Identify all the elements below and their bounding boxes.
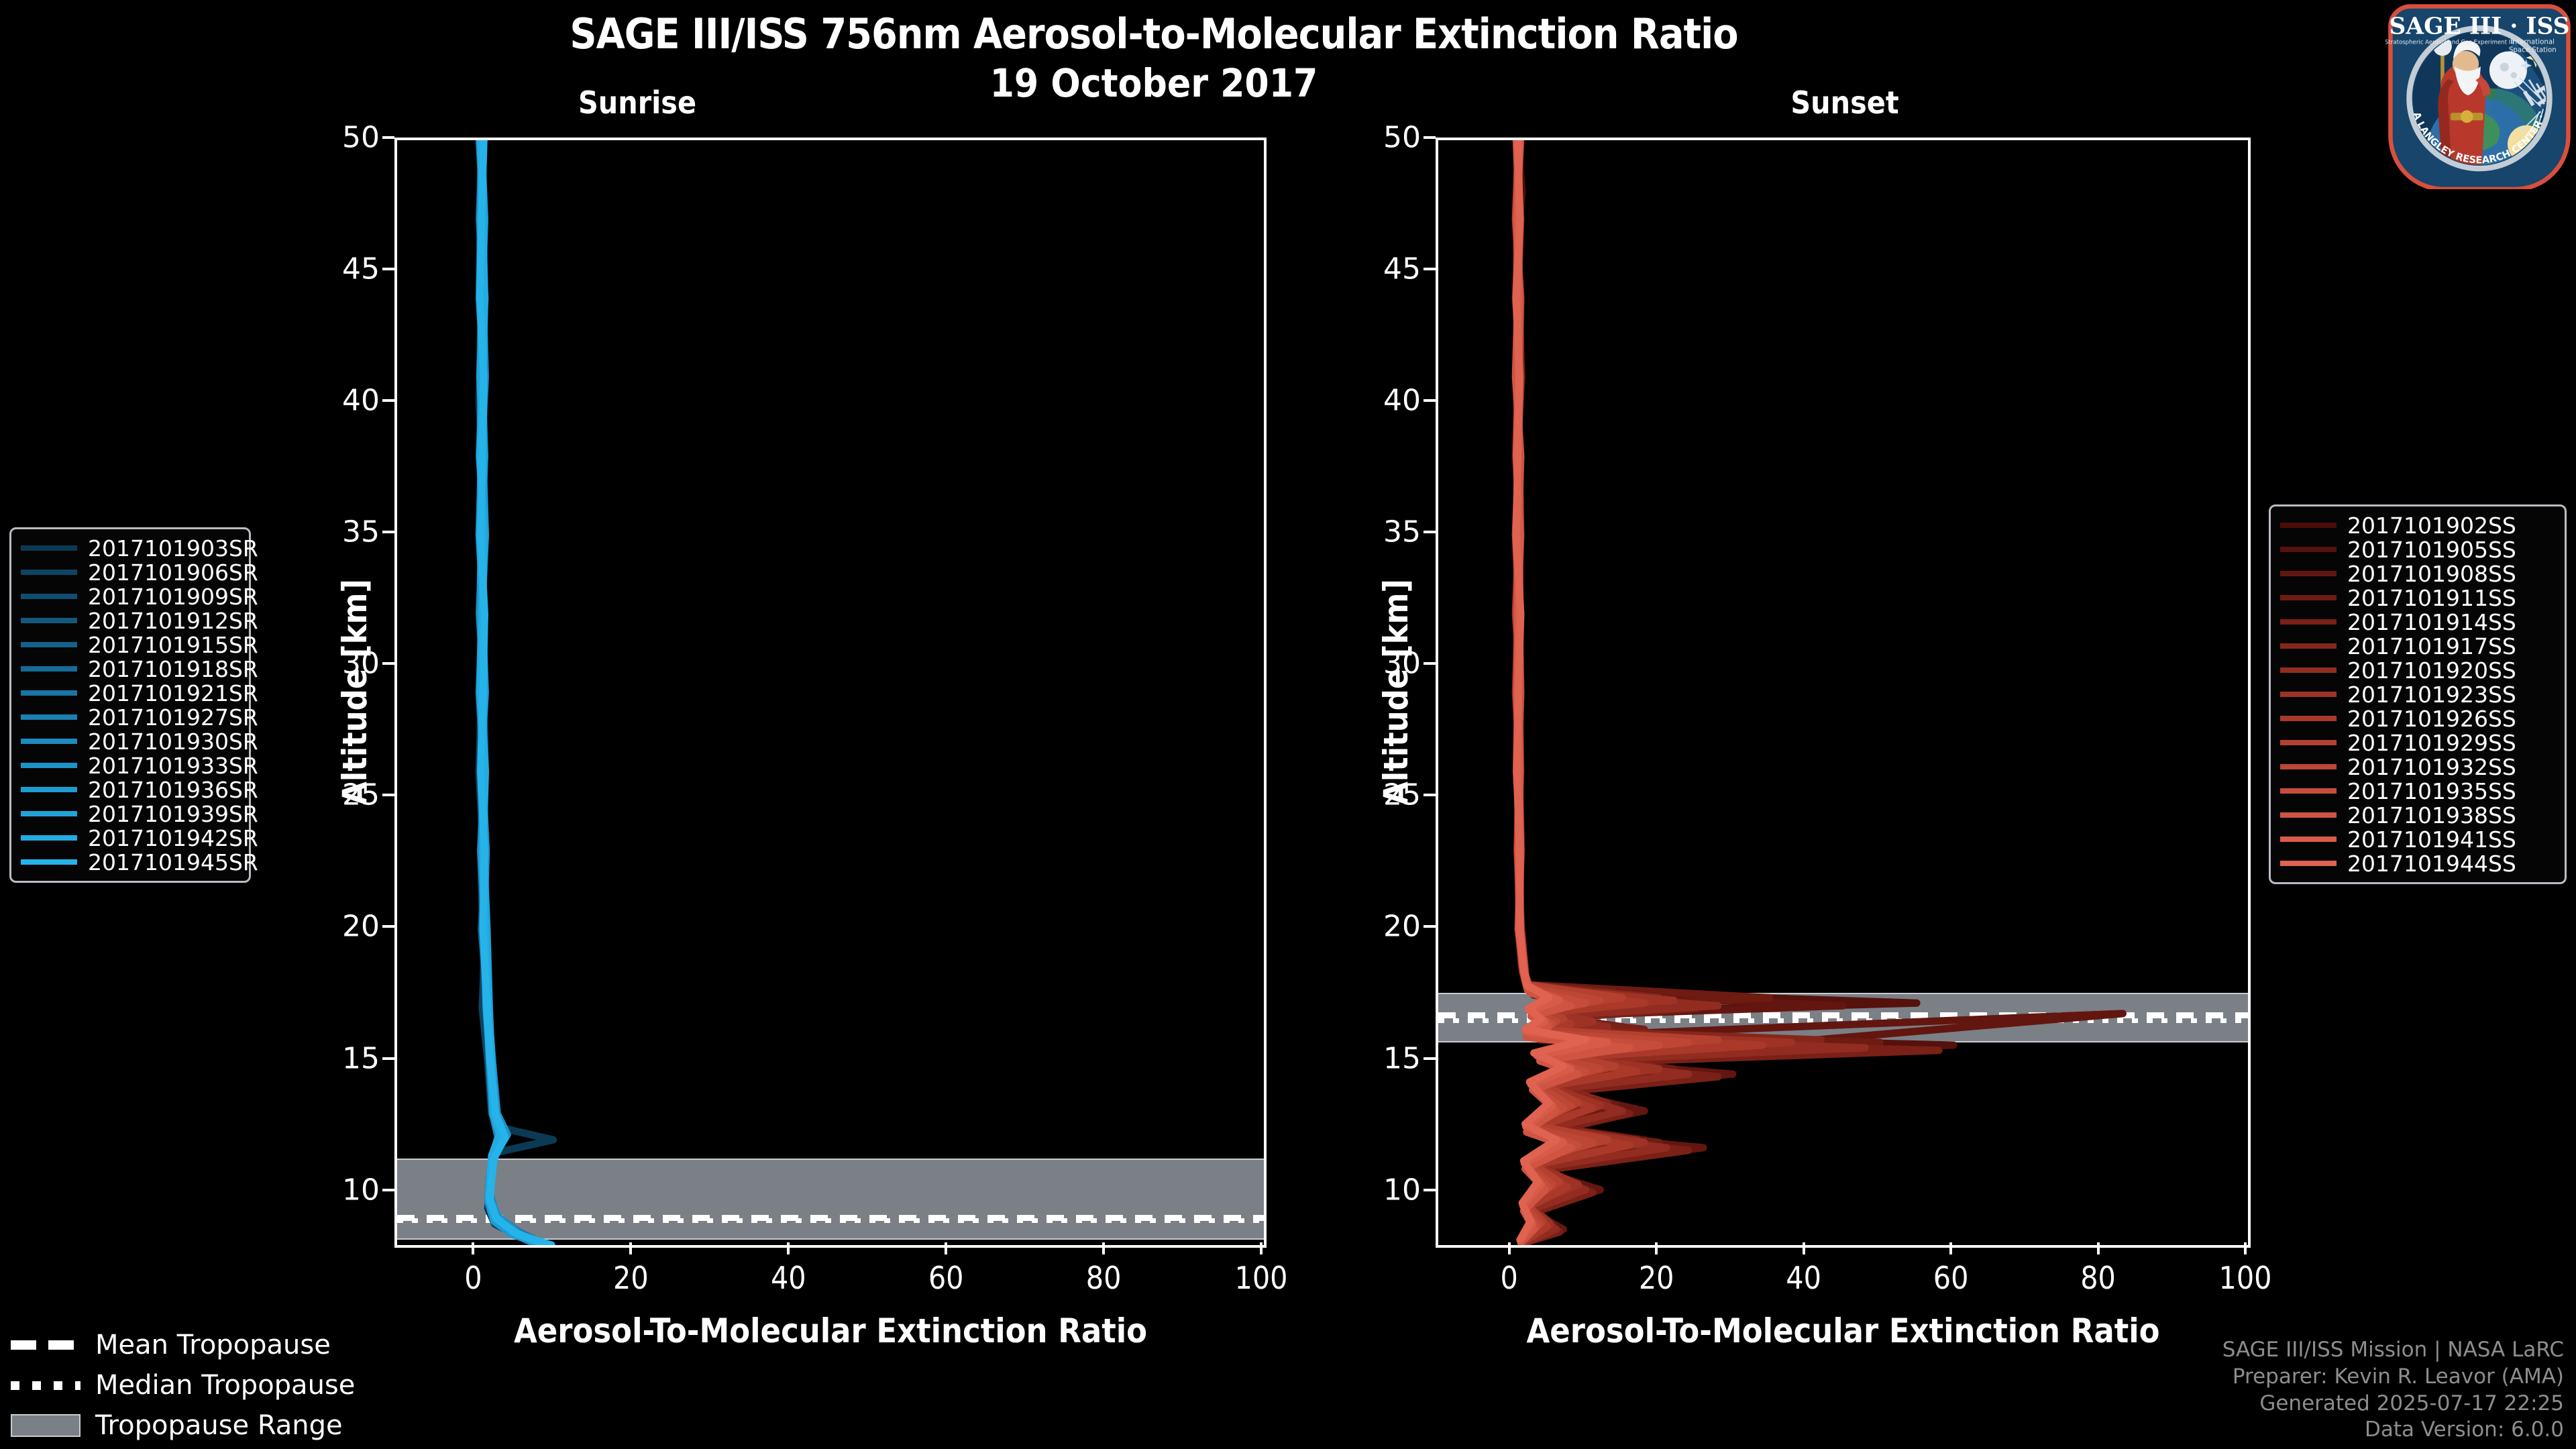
credit-line-version: Data Version: 6.0.0	[2222, 1417, 2564, 1444]
legend-item-sunset[interactable]: 2017101932SS	[2280, 755, 2555, 779]
legend-item-label: 2017101933SR	[88, 753, 258, 779]
legend-item-label: 2017101944SS	[2347, 851, 2516, 877]
legend-item-label: 2017101942SR	[88, 825, 258, 851]
legend-item-label: 2017101917SS	[2347, 633, 2516, 659]
legend-item-sunrise[interactable]: 2017101939SR	[21, 802, 239, 826]
legend-item-sunset[interactable]: 2017101902SS	[2280, 513, 2555, 537]
legend-item-sunrise[interactable]: 2017101903SR	[21, 536, 239, 560]
ytick-label: 40	[279, 384, 380, 418]
legend-item-sunrise[interactable]: 2017101933SR	[21, 753, 239, 777]
legend-color-swatch	[21, 714, 77, 720]
ytick-mark	[382, 794, 394, 796]
legend-item-sunset[interactable]: 2017101911SS	[2280, 586, 2555, 610]
ytick-mark	[1424, 268, 1436, 270]
ytick-label: 45	[279, 252, 380, 286]
legend-item-sunset[interactable]: 2017101914SS	[2280, 610, 2555, 634]
sunset-profile-curves	[1438, 140, 2248, 1245]
ytick-label: 10	[279, 1173, 380, 1207]
ytick-mark	[382, 925, 394, 928]
legend-color-swatch	[21, 739, 77, 744]
xtick-label: 40	[771, 1260, 806, 1296]
xtick-label: 0	[464, 1260, 482, 1296]
ytick-label: 50	[1320, 121, 1421, 155]
ytick-label: 50	[279, 121, 380, 155]
xtick-mark	[1949, 1242, 1952, 1254]
legend-item-label: 2017101902SS	[2347, 513, 2516, 539]
xtick-mark	[1102, 1242, 1105, 1254]
tropopause-legend-label: Median Tropopause	[95, 1370, 355, 1401]
legend-item-sunset[interactable]: 2017101920SS	[2280, 658, 2555, 682]
legend-item-sunrise[interactable]: 2017101909SR	[21, 584, 239, 608]
ytick-label: 15	[279, 1041, 380, 1075]
ytick-mark	[382, 268, 394, 270]
legend-item-label: 2017101905SS	[2347, 537, 2516, 563]
xtick-label: 100	[2219, 1260, 2272, 1296]
legend-color-swatch	[2280, 861, 2337, 866]
mean-tropopause-swatch	[11, 1337, 80, 1353]
xtick-mark	[2244, 1242, 2247, 1254]
legend-item-sunrise[interactable]: 2017101942SR	[21, 826, 239, 850]
tropopause-range-swatch	[11, 1417, 80, 1434]
legend-item-sunrise[interactable]: 2017101936SR	[21, 777, 239, 802]
page-title: SAGE III/ISS 756nm Aerosol-to-Molecular …	[0, 9, 2308, 58]
legend-item-sunset[interactable]: 2017101926SS	[2280, 706, 2555, 731]
credits-block: SAGE III/ISS Mission | NASA LaRC Prepare…	[2222, 1337, 2564, 1444]
series-line	[480, 140, 551, 1245]
xtick-mark	[629, 1242, 632, 1254]
ytick-label: 30	[1320, 647, 1421, 681]
ytick-label: 20	[279, 910, 380, 944]
ytick-mark	[382, 136, 394, 139]
legend-item-sunrise[interactable]: 2017101912SR	[21, 608, 239, 633]
legend-item-sunset[interactable]: 2017101941SS	[2280, 827, 2555, 851]
ytick-mark	[382, 531, 394, 533]
credit-line-generated: Generated 2025-07-17 22:25	[2222, 1391, 2564, 1417]
legend-item-label: 2017101929SS	[2347, 730, 2516, 756]
xtick-mark	[1260, 1242, 1263, 1254]
left-yaxis-title: Altitude [km]	[335, 579, 374, 805]
legend-color-swatch	[2280, 788, 2337, 794]
ytick-mark	[1424, 136, 1436, 139]
legend-color-swatch	[21, 763, 77, 768]
legend-item-label: 2017101923SS	[2347, 682, 2516, 708]
legend-color-swatch	[2280, 619, 2337, 625]
legend-item-label: 2017101938SS	[2347, 802, 2516, 828]
xtick-mark	[472, 1242, 474, 1254]
legend-item-sunset[interactable]: 2017101905SS	[2280, 537, 2555, 561]
xtick-mark	[945, 1242, 947, 1254]
legend-color-swatch	[2280, 667, 2337, 673]
legend-item-sunset[interactable]: 2017101917SS	[2280, 634, 2555, 658]
tropopause-legend-item: Median Tropopause	[11, 1365, 355, 1405]
ytick-label: 30	[279, 647, 380, 681]
legend-item-sunset[interactable]: 2017101923SS	[2280, 682, 2555, 706]
xtick-label: 0	[1501, 1260, 1518, 1296]
legend-color-swatch	[21, 787, 77, 792]
credit-line-mission: SAGE III/ISS Mission | NASA LaRC	[2222, 1337, 2564, 1364]
xtick-mark	[1655, 1242, 1658, 1254]
legend-color-swatch	[21, 618, 77, 623]
legend-color-swatch	[2280, 643, 2337, 649]
logo-subtitle-right-1: International	[2511, 38, 2555, 46]
legend-item-label: 2017101912SR	[88, 608, 258, 634]
legend-color-swatch	[21, 666, 77, 672]
legend-color-swatch	[21, 545, 77, 551]
logo-title-text: SAGE III · ISS	[2389, 13, 2569, 40]
right-xaxis-title: Aerosol-To-Molecular Extinction Ratio	[1436, 1311, 2251, 1350]
ytick-label: 45	[1320, 252, 1421, 286]
sunrise-series-legend[interactable]: 2017101903SR2017101906SR2017101909SR2017…	[9, 527, 251, 883]
logo-subtitle-left: Stratospheric Aerosol and Gas Experiment…	[2385, 39, 2514, 46]
ytick-mark	[382, 399, 394, 402]
legend-color-swatch	[21, 594, 77, 599]
tropopause-legend-label: Tropopause Range	[95, 1410, 343, 1441]
ytick-mark	[1424, 1057, 1436, 1060]
xtick-label: 80	[1086, 1260, 1122, 1296]
legend-color-swatch	[2280, 571, 2337, 576]
logo-subtitle-right-2: Space Station	[2509, 46, 2557, 54]
legend-item-sunrise[interactable]: 2017101927SR	[21, 705, 239, 729]
legend-color-swatch	[21, 642, 77, 647]
xtick-label: 40	[1786, 1260, 1821, 1296]
legend-item-label: 2017101926SS	[2347, 706, 2516, 732]
xtick-mark	[1803, 1242, 1805, 1254]
ytick-mark	[382, 1057, 394, 1060]
legend-item-sunrise[interactable]: 2017101930SR	[21, 729, 239, 753]
legend-item-label: 2017101911SS	[2347, 585, 2516, 611]
right-panel-title: Sunset	[1610, 85, 2080, 121]
legend-item-sunrise[interactable]: 2017101918SR	[21, 657, 239, 681]
legend-color-swatch	[2280, 547, 2337, 552]
legend-item-label: 2017101914SS	[2347, 609, 2516, 635]
left-panel-title: Sunrise	[402, 85, 872, 121]
legend-color-swatch	[2280, 595, 2337, 600]
legend-item-sunrise[interactable]: 2017101921SR	[21, 681, 239, 705]
legend-color-swatch	[21, 690, 77, 696]
legend-color-swatch	[2280, 716, 2337, 721]
sunrise-plot-area	[394, 138, 1267, 1248]
xtick-mark	[2097, 1242, 2100, 1254]
legend-color-swatch	[2280, 837, 2337, 842]
xtick-label: 20	[613, 1260, 649, 1296]
legend-item-sunset[interactable]: 2017101938SS	[2280, 803, 2555, 827]
tropopause-legend-item: Tropopause Range	[11, 1405, 355, 1446]
xtick-mark	[787, 1242, 790, 1254]
legend-color-swatch	[21, 811, 77, 816]
legend-item-label: 2017101915SR	[88, 632, 258, 658]
legend-color-swatch	[2280, 740, 2337, 745]
legend-item-label: 2017101945SR	[88, 849, 258, 875]
ytick-label: 10	[1320, 1173, 1421, 1207]
tropopause-legend-item: Mean Tropopause	[11, 1325, 355, 1365]
legend-item-label: 2017101930SR	[88, 729, 258, 755]
ytick-mark	[1424, 1189, 1436, 1191]
legend-color-swatch	[2280, 523, 2337, 528]
sunrise-profile-curves	[397, 140, 1264, 1245]
legend-item-label: 2017101908SS	[2347, 561, 2516, 587]
legend-item-label: 2017101921SR	[88, 680, 258, 706]
legend-item-label: 2017101906SR	[88, 559, 258, 586]
legend-item-label: 2017101909SR	[88, 584, 258, 610]
legend-item-sunrise[interactable]: 2017101915SR	[21, 633, 239, 657]
ytick-label: 15	[1320, 1041, 1421, 1075]
ytick-mark	[1424, 925, 1436, 928]
ytick-mark	[1424, 662, 1436, 665]
legend-item-sunset[interactable]: 2017101929SS	[2280, 731, 2555, 755]
ytick-label: 35	[1320, 515, 1421, 549]
credit-line-preparer: Preparer: Kevin R. Leavor (AMA)	[2222, 1364, 2564, 1391]
legend-color-swatch	[2280, 764, 2337, 769]
legend-item-label: 2017101927SR	[88, 704, 258, 731]
legend-item-label: 2017101941SS	[2347, 826, 2516, 853]
legend-color-swatch	[21, 570, 77, 575]
legend-item-sunrise[interactable]: 2017101945SR	[21, 850, 239, 874]
right-yaxis-title: Altitude [km]	[1377, 579, 1415, 805]
legend-color-swatch	[21, 859, 77, 865]
legend-color-swatch	[2280, 692, 2337, 697]
xtick-label: 80	[2080, 1260, 2116, 1296]
legend-color-swatch	[2280, 812, 2337, 818]
sage-iii-iss-mission-logo-icon: SAGE III · ISS Stratospheric Aerosol and…	[2385, 1, 2573, 189]
legend-item-sunset[interactable]: 2017101908SS	[2280, 561, 2555, 586]
xtick-label: 60	[928, 1260, 964, 1296]
legend-item-label: 2017101932SS	[2347, 754, 2516, 780]
legend-item-label: 2017101936SR	[88, 777, 258, 803]
legend-item-label: 2017101920SS	[2347, 657, 2516, 684]
legend-item-label: 2017101918SR	[88, 656, 258, 682]
ytick-label: 35	[279, 515, 380, 549]
ytick-label: 40	[1320, 384, 1421, 418]
ytick-mark	[382, 662, 394, 665]
ytick-mark	[1424, 531, 1436, 533]
tropopause-legend: Mean TropopauseMedian TropopauseTropopau…	[11, 1325, 355, 1446]
ytick-mark	[1424, 399, 1436, 402]
ytick-mark	[382, 1189, 394, 1191]
ytick-label: 20	[1320, 910, 1421, 944]
legend-item-label: 2017101939SR	[88, 801, 258, 827]
legend-item-label: 2017101935SS	[2347, 778, 2516, 804]
sunset-series-legend[interactable]: 2017101902SS2017101905SS2017101908SS2017…	[2269, 504, 2567, 884]
tropopause-legend-label: Mean Tropopause	[95, 1330, 331, 1360]
ytick-label: 25	[279, 778, 380, 812]
median-tropopause-swatch	[11, 1377, 80, 1393]
xtick-mark	[1508, 1242, 1511, 1254]
xtick-label: 100	[1235, 1260, 1288, 1296]
legend-item-sunrise[interactable]: 2017101906SR	[21, 560, 239, 584]
legend-color-swatch	[21, 835, 77, 841]
xtick-label: 20	[1639, 1260, 1674, 1296]
sunset-plot-area	[1436, 138, 2251, 1248]
xtick-label: 60	[1933, 1260, 1969, 1296]
left-xaxis-title: Aerosol-To-Molecular Extinction Ratio	[394, 1311, 1267, 1350]
ytick-label: 25	[1320, 778, 1421, 812]
ytick-mark	[1424, 794, 1436, 796]
legend-item-sunset[interactable]: 2017101935SS	[2280, 779, 2555, 803]
legend-item-sunset[interactable]: 2017101944SS	[2280, 851, 2555, 875]
legend-item-label: 2017101903SR	[88, 535, 258, 561]
